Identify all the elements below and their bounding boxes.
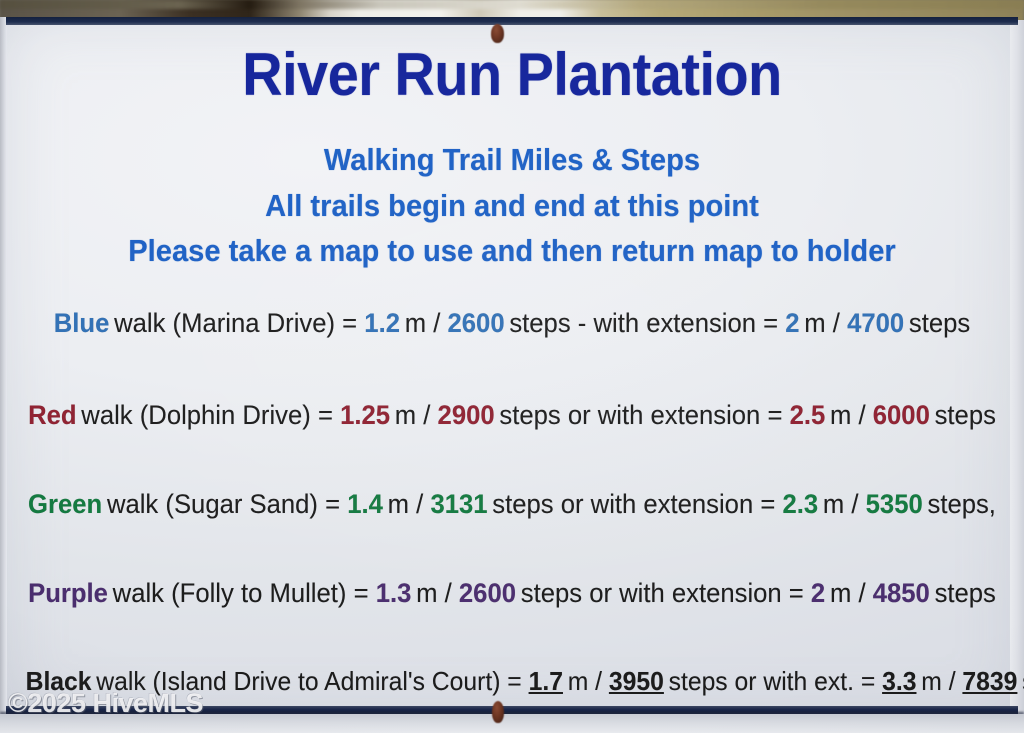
trail-miles-unit-red: m — [395, 400, 416, 430]
trail-ext-miles-blue: 2 — [785, 308, 799, 338]
trail-connector-black: or with ext. = — [735, 666, 876, 696]
trail-ext-steps-red: 6000 — [873, 400, 930, 430]
trail-steps-green: 3131 — [430, 489, 487, 519]
trail-ext-slash-red: / — [858, 400, 865, 430]
trail-ext-miles-unit-red: m — [830, 400, 851, 430]
trail-miles-unit-green: m — [388, 489, 409, 519]
trail-slash-green: / — [416, 489, 423, 519]
trail-miles-unit-black: m — [568, 666, 589, 696]
background-upper-blur — [0, 0, 1024, 9]
trail-miles-unit-blue: m — [405, 308, 426, 338]
watermark: ©2025 HiveMLS — [8, 688, 203, 719]
trail-ext-steps-label-red: steps — [935, 400, 996, 430]
trail-equals-red: = — [318, 400, 333, 430]
trail-ext-steps-label-green: steps, — [927, 489, 995, 519]
trail-equals-blue: = — [342, 308, 357, 338]
trail-ext-steps-green: 5350 — [866, 489, 923, 519]
trail-name-green: Green — [28, 489, 102, 519]
trail-steps-label-purple: steps — [521, 578, 582, 608]
trail-ext-steps-blue: 4700 — [847, 308, 904, 338]
trail-name-red: Red — [28, 400, 76, 430]
trail-slash-red: / — [423, 400, 430, 430]
trail-ext-miles-unit-purple: m — [830, 578, 851, 608]
trail-connector-green: or with extension = — [561, 489, 776, 519]
trail-steps-black: 3950 — [609, 666, 664, 696]
trail-miles-blue: 1.2 — [364, 308, 400, 338]
trail-ext-slash-green: / — [851, 489, 858, 519]
trail-connector-blue: - with extension = — [578, 308, 778, 338]
trail-ext-miles-green: 2.3 — [782, 489, 818, 519]
trail-name-blue: Blue — [54, 308, 110, 338]
screw-bottom-icon — [492, 701, 504, 723]
trail-row-purple: Purplewalk (Folly to Mullet) = 1.3m / 26… — [26, 578, 999, 609]
trail-ext-slash-black: / — [949, 666, 956, 696]
trail-row-green: Greenwalk (Sugar Sand) = 1.4m / 3131step… — [26, 489, 999, 520]
trail-ext-slash-blue: / — [833, 308, 840, 338]
trail-steps-label-black: steps — [669, 666, 728, 696]
trail-miles-green: 1.4 — [347, 489, 383, 519]
trail-slash-purple: / — [445, 578, 452, 608]
trail-steps-purple: 2600 — [459, 578, 516, 608]
trail-ext-miles-unit-black: m — [921, 666, 942, 696]
trail-slash-black: / — [595, 666, 602, 696]
trail-route-black: (Island Drive to Admiral's Court) — [153, 666, 501, 696]
sign-subtitle-3: Please take a map to use and then return… — [31, 233, 994, 269]
trail-ext-steps-purple: 4850 — [873, 578, 930, 608]
trail-route-green: (Sugar Sand) — [165, 489, 318, 519]
trail-name-purple: Purple — [28, 578, 108, 608]
trail-walk-label-blue: walk — [114, 308, 165, 338]
trail-route-blue: (Marina Drive) — [173, 308, 335, 338]
sign-subtitle-1: Walking Trail Miles & Steps — [31, 142, 994, 178]
trail-ext-miles-unit-green: m — [823, 489, 844, 519]
sign-panel — [6, 17, 1018, 720]
sign-title: River Run Plantation — [36, 40, 988, 109]
trail-ext-miles-black: 3.3 — [882, 666, 916, 696]
sign-subtitle-2: All trails begin and end at this point — [31, 188, 994, 224]
trail-miles-unit-purple: m — [416, 578, 437, 608]
trail-equals-black: = — [507, 666, 521, 696]
sign-edge-left — [0, 17, 7, 720]
trail-route-red: (Dolphin Drive) — [140, 400, 311, 430]
trail-ext-miles-purple: 2 — [811, 578, 825, 608]
trail-slash-blue: / — [433, 308, 440, 338]
trail-steps-label-red: steps — [499, 400, 560, 430]
trail-route-purple: (Folly to Mullet) — [171, 578, 346, 608]
trail-row-blue: Bluewalk (Marina Drive) = 1.2m / 2600ste… — [26, 308, 999, 339]
trail-ext-steps-black: 7839 — [962, 666, 1017, 696]
trail-walk-label-red: walk — [81, 400, 132, 430]
trail-steps-blue: 2600 — [448, 308, 505, 338]
trail-miles-purple: 1.3 — [376, 578, 412, 608]
trail-row-red: Redwalk (Dolphin Drive) = 1.25m / 2900st… — [26, 400, 999, 431]
trail-equals-green: = — [325, 489, 340, 519]
trail-steps-label-green: steps — [492, 489, 553, 519]
trail-walk-label-green: walk — [107, 489, 158, 519]
trail-equals-purple: = — [354, 578, 369, 608]
trail-walk-label-purple: walk — [113, 578, 164, 608]
trail-steps-red: 2900 — [438, 400, 495, 430]
trail-connector-red: or with extension = — [568, 400, 783, 430]
sign-edge-right — [1010, 20, 1024, 733]
trail-ext-miles-red: 2.5 — [790, 400, 826, 430]
trail-connector-purple: or with extension = — [589, 578, 804, 608]
trail-miles-black: 1.7 — [529, 666, 563, 696]
trail-ext-steps-label-purple: steps — [935, 578, 996, 608]
trail-ext-miles-unit-blue: m — [804, 308, 825, 338]
sign-border-top — [6, 17, 1018, 25]
trail-steps-label-blue: steps — [509, 308, 570, 338]
photo-of-trail-sign: River Run Plantation Walking Trail Miles… — [0, 0, 1024, 733]
trail-ext-steps-label-blue: steps — [909, 308, 970, 338]
trail-miles-red: 1.25 — [340, 400, 390, 430]
trail-ext-slash-purple: / — [858, 578, 865, 608]
